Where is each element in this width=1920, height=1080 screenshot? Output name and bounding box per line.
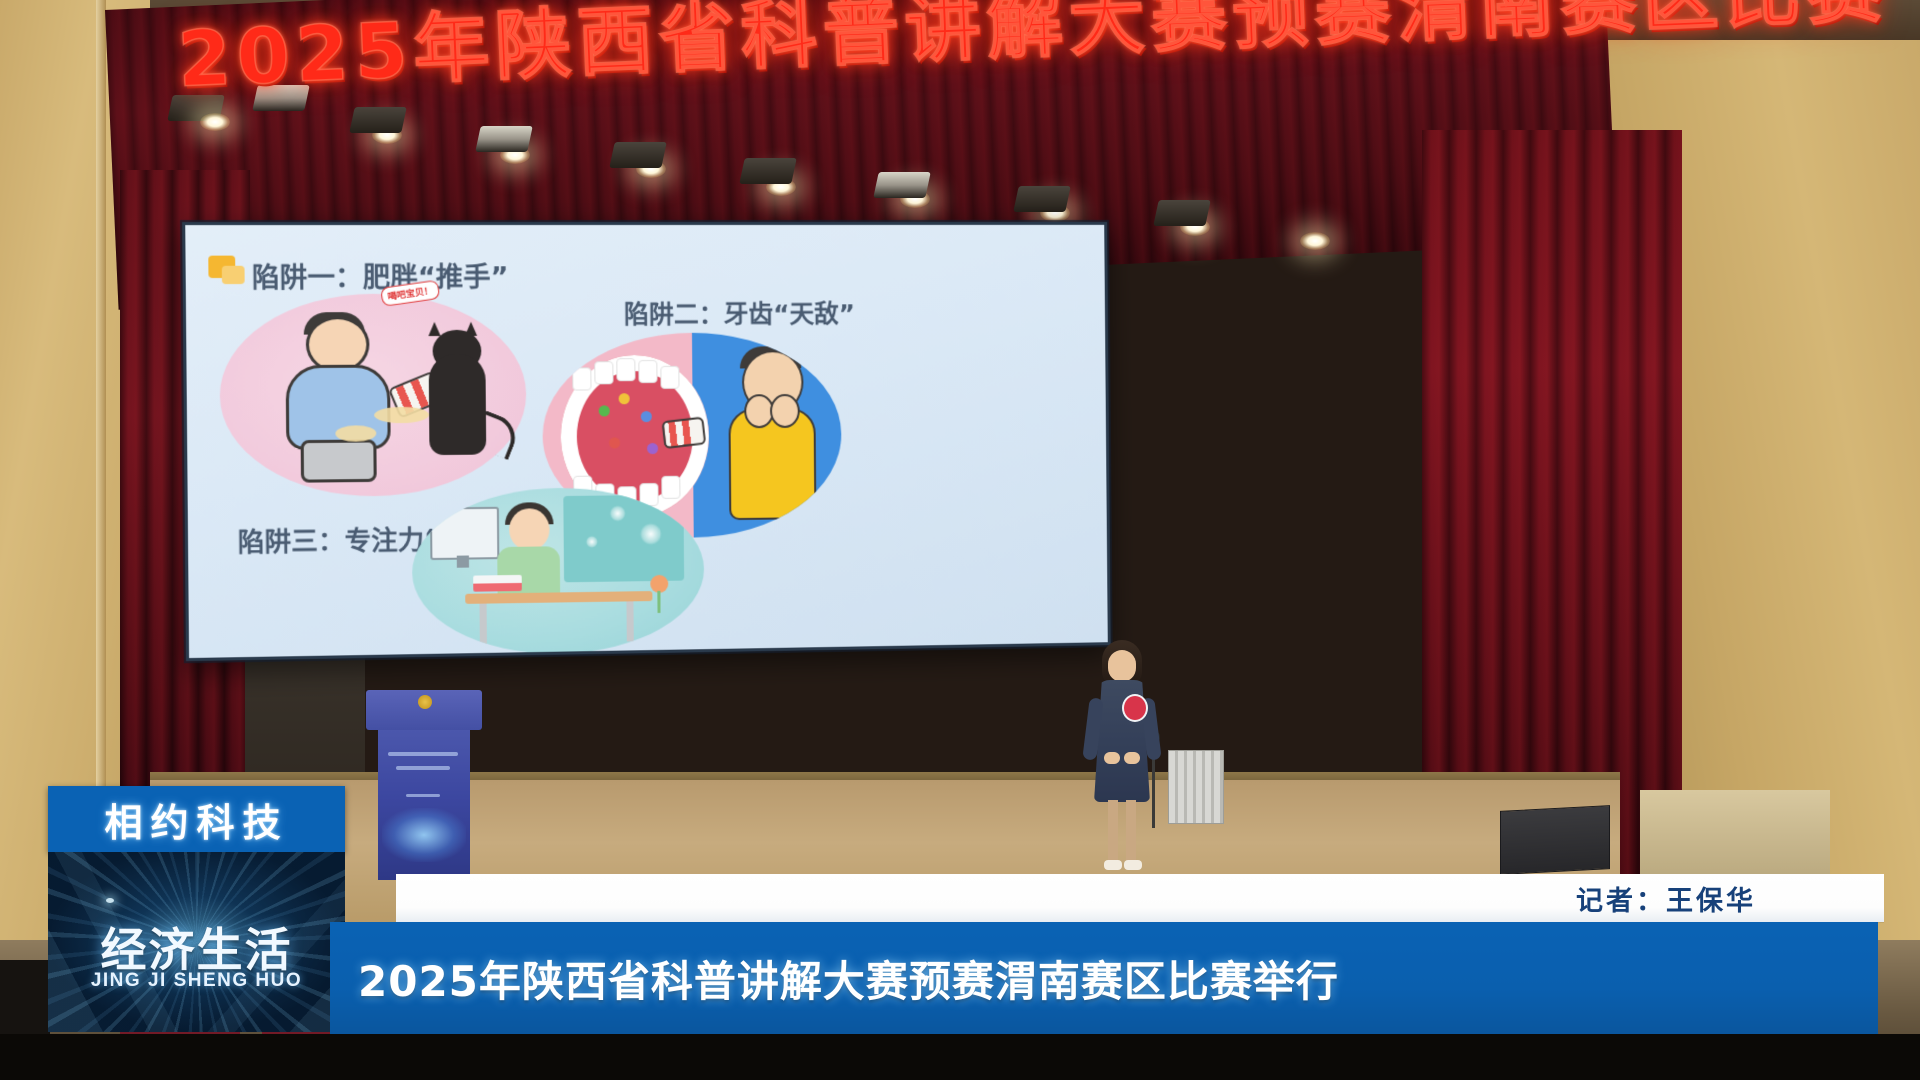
program-tag: 相约科技 <box>48 786 345 852</box>
illustration-focus <box>411 486 704 656</box>
program-tag-label: 相约科技 <box>104 792 288 847</box>
germ-dot <box>609 437 620 448</box>
germ-dot <box>599 405 610 416</box>
podium <box>366 690 482 880</box>
headline-text: 2025年陕西省科普讲解大赛预赛渭南赛区比赛举行 <box>358 948 1339 1009</box>
spot-light <box>200 113 230 131</box>
radiator <box>1168 750 1224 824</box>
desk <box>465 591 652 604</box>
germ-dot <box>619 393 630 404</box>
stage-speaker <box>1500 805 1610 875</box>
light-housing <box>609 142 667 168</box>
contestant-number-badge <box>1122 694 1148 722</box>
bottom-letterbox <box>0 1034 1920 1080</box>
light-housing <box>349 107 407 133</box>
light-housing <box>1153 200 1211 226</box>
dandelion-seed <box>666 501 682 517</box>
reporter-strip: 记者：王保华 <box>396 874 1884 922</box>
slide-caption-trap-one: 陷阱一：肥胖“推手” <box>252 255 509 295</box>
channel-logo-en: JING JI SHENG HUO <box>48 970 345 992</box>
broadcast-frame: 2025年陕西省科普讲解大赛预赛渭南赛区比赛 陷阱一：肥胖“推手” <box>0 0 1920 1080</box>
illustration-obesity: 喝吧宝贝！ <box>219 293 527 497</box>
soda-cup-icon <box>661 417 706 450</box>
logo-glint <box>106 898 114 903</box>
dandelion-seed <box>640 523 662 545</box>
cartoon-student <box>509 508 550 551</box>
monitor-icon <box>430 507 499 560</box>
projection-screen: 陷阱一：肥胖“推手” 喝吧宝贝！ <box>182 222 1111 661</box>
cartoon-toothache-man <box>720 350 820 520</box>
side-table <box>1640 790 1830 882</box>
slide-caption-trap-two: 陷阱二：牙齿“天敌” <box>624 294 855 331</box>
light-housing <box>873 172 931 198</box>
headline-bar: 2025年陕西省科普讲解大赛预赛渭南赛区比赛举行 <box>330 922 1878 1034</box>
cartoon-overweight-child <box>279 316 393 479</box>
germ-dot <box>641 411 652 422</box>
germ-dot <box>647 443 658 454</box>
cartoon-devil <box>414 330 503 482</box>
presenter <box>1082 640 1162 880</box>
light-housing <box>475 126 533 152</box>
podium-emblem-icon <box>418 695 432 709</box>
channel-logo: 经济生活 JING JI SHENG HUO <box>48 852 345 1032</box>
light-housing <box>739 158 797 184</box>
dandelion-seed <box>610 505 626 521</box>
light-housing <box>252 85 310 111</box>
bullet-square-icon <box>208 256 235 278</box>
reporter-credit: 记者：王保华 <box>1576 879 1756 918</box>
light-housing <box>1013 186 1071 212</box>
spot-light <box>1300 232 1330 250</box>
dandelion-seed <box>586 536 598 548</box>
book-stack <box>473 575 522 592</box>
